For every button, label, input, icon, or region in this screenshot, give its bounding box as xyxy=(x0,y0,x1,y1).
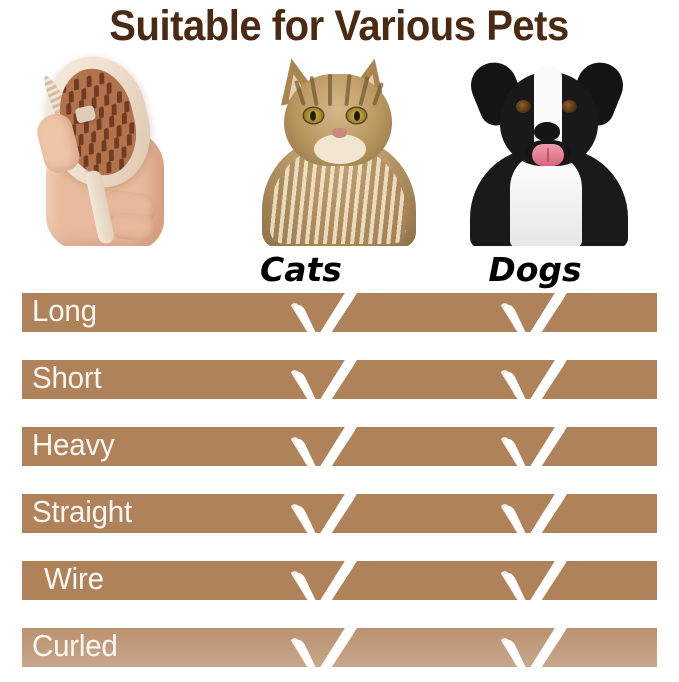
brush-bristle xyxy=(74,78,79,90)
dog-tongue xyxy=(532,144,564,166)
checkmark-icon-cats-long xyxy=(284,279,370,347)
page-title: Suitable for Various Pets xyxy=(110,4,570,48)
brush-bristle xyxy=(109,149,114,161)
dog-chest-fur xyxy=(510,152,582,246)
brush-bristle xyxy=(66,103,71,115)
brush-bristle xyxy=(89,142,94,154)
brush-bristle xyxy=(101,140,106,152)
table-row[interactable]: Short xyxy=(22,360,657,399)
brush-bristle xyxy=(94,85,99,97)
brush-bristle xyxy=(114,137,119,149)
row-label-short: Short xyxy=(32,358,101,397)
brush-bristle xyxy=(84,121,89,133)
row-label-straight: Straight xyxy=(32,492,132,531)
brush-bristle xyxy=(124,100,129,112)
checkmark-icon-dogs-curled xyxy=(494,614,580,682)
checkmark-icon-dogs-long xyxy=(494,279,580,347)
brush-bristle xyxy=(96,152,101,164)
photo-strip xyxy=(0,50,679,246)
brush-bristle xyxy=(79,134,84,146)
brush-bristle xyxy=(99,106,104,118)
dog-nose xyxy=(534,122,560,141)
table-row[interactable]: Curled xyxy=(22,628,657,667)
cat-tabby-stripe xyxy=(328,74,332,106)
cat-nose xyxy=(332,128,347,138)
row-label-long: Long xyxy=(32,291,97,330)
brush-bristle xyxy=(91,131,96,143)
checkmark-icon-dogs-heavy xyxy=(494,413,580,481)
border-collie-dog-image xyxy=(452,52,642,246)
brush-bristle xyxy=(106,161,111,173)
checkmark-icon-dogs-wire xyxy=(494,547,580,615)
brush-bristle xyxy=(117,91,122,103)
checkmark-icon-dogs-straight xyxy=(494,480,580,548)
checkmark-icon-cats-wire xyxy=(284,547,370,615)
brush-bristle xyxy=(122,112,127,124)
brush-bristle xyxy=(104,94,109,106)
brush-bristle xyxy=(69,91,74,103)
brush-bristle xyxy=(109,115,114,127)
title-bar: Suitable for Various Pets xyxy=(0,0,679,52)
brush-bristle xyxy=(104,128,109,140)
brush-bristle xyxy=(107,82,112,94)
brush-bristle xyxy=(81,88,86,100)
brush-bristle xyxy=(117,125,122,137)
dog-eye-right xyxy=(562,100,577,113)
row-label-wire: Wire xyxy=(44,559,104,598)
cat-tabby-stripe xyxy=(344,74,351,106)
cat-tabby-stripe xyxy=(358,76,369,106)
table-row[interactable]: Wire xyxy=(22,561,657,600)
brush-bristle xyxy=(112,103,117,115)
brush-bristle xyxy=(129,122,134,134)
long-haired-tabby-cat-image xyxy=(242,52,432,246)
cat-pupil-left xyxy=(310,111,316,121)
brush-bristle xyxy=(83,155,88,167)
row-label-heavy: Heavy xyxy=(32,425,115,464)
brush-bristle xyxy=(121,146,126,158)
brush-bristle xyxy=(127,134,132,146)
brush-bristle xyxy=(99,72,104,84)
cat-pupil-right xyxy=(354,111,360,121)
cat-tabby-stripe xyxy=(309,76,318,106)
checkmark-icon-cats-curled xyxy=(284,614,370,682)
checkmark-icon-cats-short xyxy=(284,346,370,414)
dog-eye-left xyxy=(516,100,531,113)
pet-coat-type-comparison-table: Cats Dogs LongShortHeavyStraightWireCurl… xyxy=(0,246,679,679)
brush-bristle xyxy=(87,75,92,87)
cat-tabby-stripe xyxy=(372,82,384,106)
table-row[interactable]: Heavy xyxy=(22,427,657,466)
checkmark-icon-cats-straight xyxy=(284,480,370,548)
pet-grooming-brush-in-hand-image xyxy=(18,52,233,246)
table-row[interactable]: Long xyxy=(22,293,657,332)
cat-muzzle xyxy=(314,134,366,164)
table-body: LongShortHeavyStraightWireCurled xyxy=(0,293,679,679)
row-label-curled: Curled xyxy=(32,626,118,665)
brush-bristle xyxy=(61,81,66,93)
table-row[interactable]: Straight xyxy=(22,494,657,533)
brush-bristle xyxy=(97,118,102,130)
checkmark-icon-cats-heavy xyxy=(284,413,370,481)
checkmark-icon-dogs-short xyxy=(494,346,580,414)
brush-bristle xyxy=(119,158,124,170)
